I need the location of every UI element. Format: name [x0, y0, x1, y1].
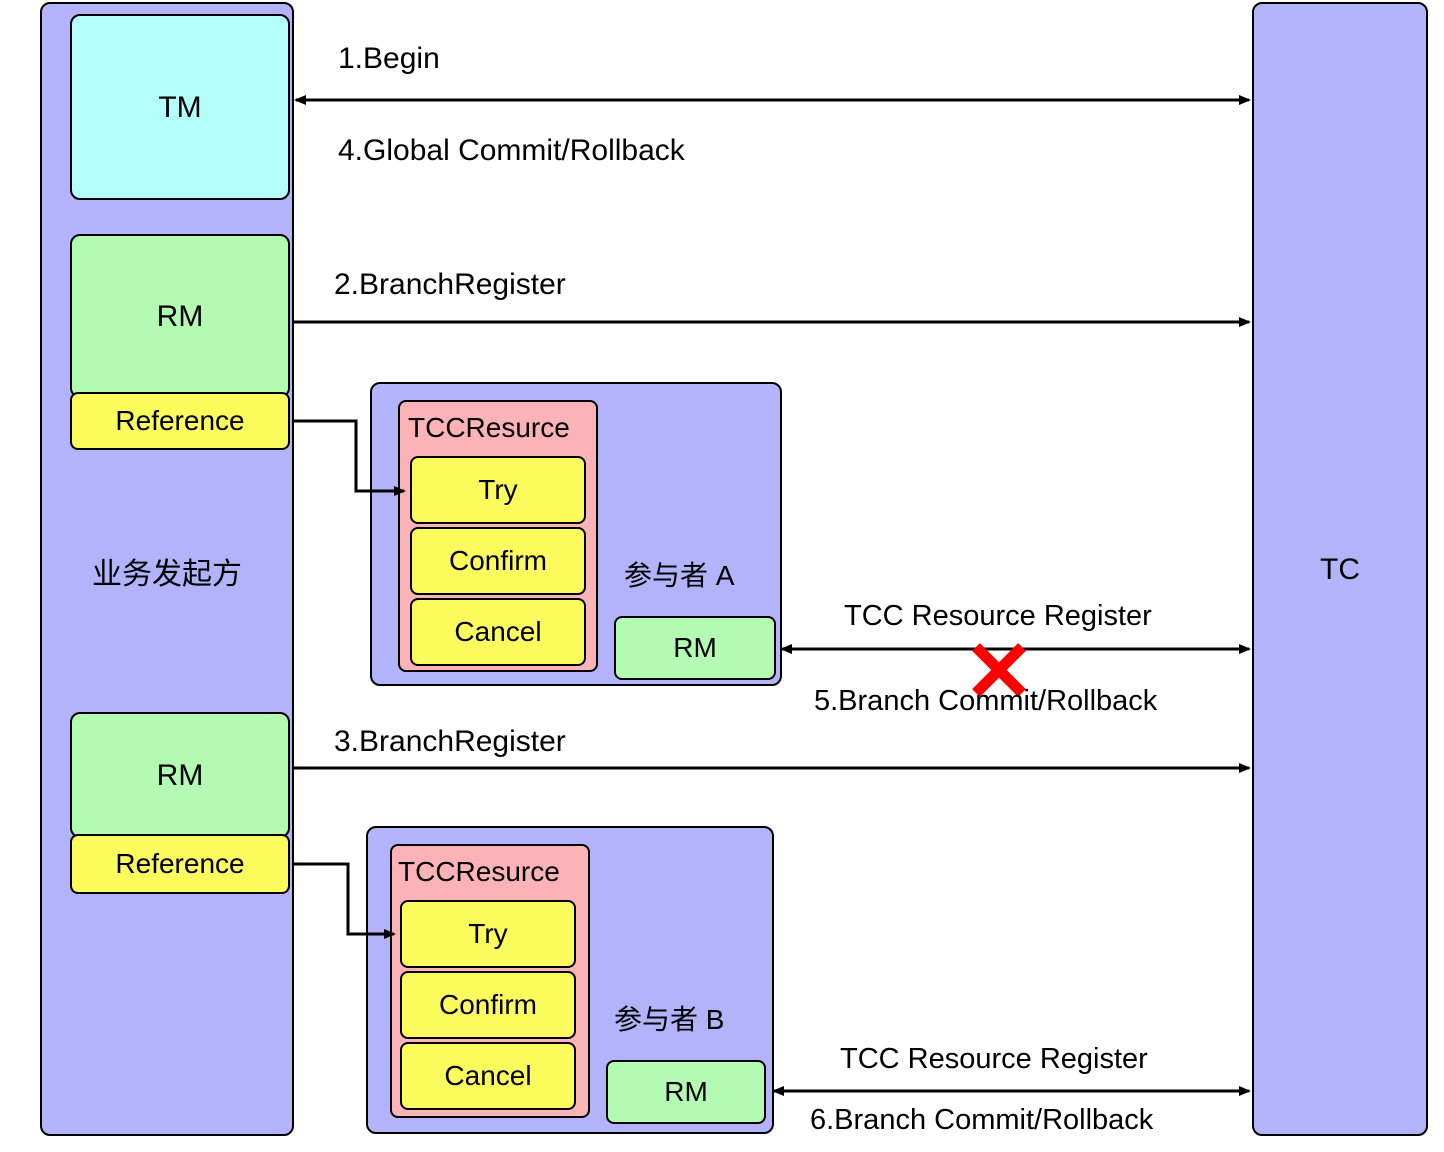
label-branch-commit-rollback-6: 6.Branch Commit/Rollback	[810, 1106, 1153, 1135]
participant-a-label: 参与者 A	[624, 562, 734, 590]
participant-b-confirm-box[interactable]: Confirm	[400, 971, 576, 1039]
participant-b-cancel-box[interactable]: Cancel	[400, 1042, 576, 1110]
participant-a-try-box[interactable]: Try	[410, 456, 586, 524]
reference-box-top[interactable]: Reference	[70, 392, 290, 450]
rm-box-top[interactable]: RM	[70, 234, 290, 398]
label-branch-commit-rollback-5: 5.Branch Commit/Rollback	[814, 687, 1157, 716]
tc-lane[interactable]: TC	[1252, 2, 1428, 1136]
participant-a-cancel-box[interactable]: Cancel	[410, 598, 586, 666]
participant-b-label: 参与者 B	[614, 1006, 724, 1034]
label-branch-register-2: 2.BranchRegister	[334, 270, 566, 300]
rm-box-bottom[interactable]: RM	[70, 712, 290, 838]
reference-box-bottom[interactable]: Reference	[70, 834, 290, 894]
initiator-lane-label: 业务发起方	[48, 560, 286, 590]
label-begin: 1.Begin	[338, 44, 440, 74]
participant-b-rm-box[interactable]: RM	[606, 1060, 766, 1124]
label-tcc-resource-register-a: TCC Resource Register	[844, 602, 1152, 631]
participant-a-confirm-box[interactable]: Confirm	[410, 527, 586, 595]
label-tcc-resource-register-b: TCC Resource Register	[840, 1045, 1148, 1074]
participant-a-tccresource-title: TCCResurce	[408, 412, 570, 444]
label-branch-register-3: 3.BranchRegister	[334, 727, 566, 757]
participant-a-rm-box[interactable]: RM	[614, 616, 776, 680]
diagram-canvas: 业务发起方 TM RM Reference RM Reference TC TC…	[0, 0, 1444, 1152]
label-global-commit-rollback: 4.Global Commit/Rollback	[338, 136, 685, 166]
participant-b-tccresource-title: TCCResurce	[398, 856, 560, 888]
tm-box[interactable]: TM	[70, 14, 290, 200]
participant-b-try-box[interactable]: Try	[400, 900, 576, 968]
